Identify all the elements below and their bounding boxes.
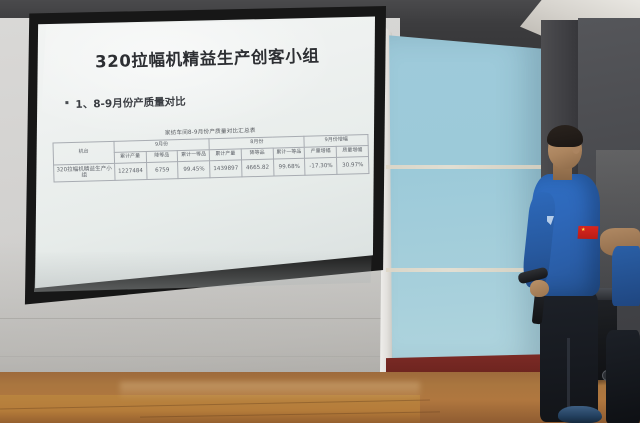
presenter: ★ <box>520 128 612 423</box>
slide-bullet-text: 1、8-9月份产质量对比 <box>75 94 186 112</box>
wall-seam <box>0 356 400 357</box>
wall-seam <box>0 318 400 319</box>
presenter-shoe <box>558 406 602 423</box>
header-machine: 机台 <box>53 141 114 164</box>
seated-attendee <box>606 330 640 423</box>
floor-reflection <box>120 382 420 400</box>
bullet-dot-icon <box>65 101 68 104</box>
cell-sep-cumulative-output: 1227484 <box>114 162 146 181</box>
cell-aug-first-grade-rate: 99.68% <box>273 158 305 177</box>
presenter-leg-seam <box>567 338 570 410</box>
projected-slide: 320拉幅机精益生产创客小组 1、8-9月份产质量对比 家纺车间8-9月份产质量… <box>33 5 384 282</box>
cell-sep-downgraded: 6759 <box>146 161 178 180</box>
cell-sep-first-grade-rate: 99.45% <box>178 160 210 179</box>
quality-comparison-table: 机台 9月份 8月份 9月份增幅 累计产量 降等品 累计一等品 累计产量 降等品… <box>52 134 369 183</box>
slide-bullet-item: 1、8-9月份产质量对比 <box>65 94 186 112</box>
slide-title: 320拉幅机精益生产创客小组 <box>72 42 343 73</box>
cell-quality-growth: 30.97% <box>337 156 369 175</box>
attendee-shirt <box>612 246 640 306</box>
slide-table-wrapper: 家纺车间8-9月份产质量对比汇总表 机台 9月份 8月份 9月份增幅 累计产量 … <box>52 123 369 183</box>
cell-aug-downgraded: 4665.82 <box>241 159 273 178</box>
presenter-hand <box>530 280 549 297</box>
cell-output-growth: -17.30% <box>305 157 337 176</box>
flag-star-icon: ★ <box>581 228 585 232</box>
cell-machine: 320拉幅机精益生产小组 <box>54 163 115 182</box>
photo-scene: 320拉幅机精益生产创客小组 1、8-9月份产质量对比 家纺车间8-9月份产质量… <box>0 0 640 423</box>
cell-aug-cumulative-output: 1439897 <box>210 159 242 178</box>
presenter-hair <box>547 125 583 147</box>
